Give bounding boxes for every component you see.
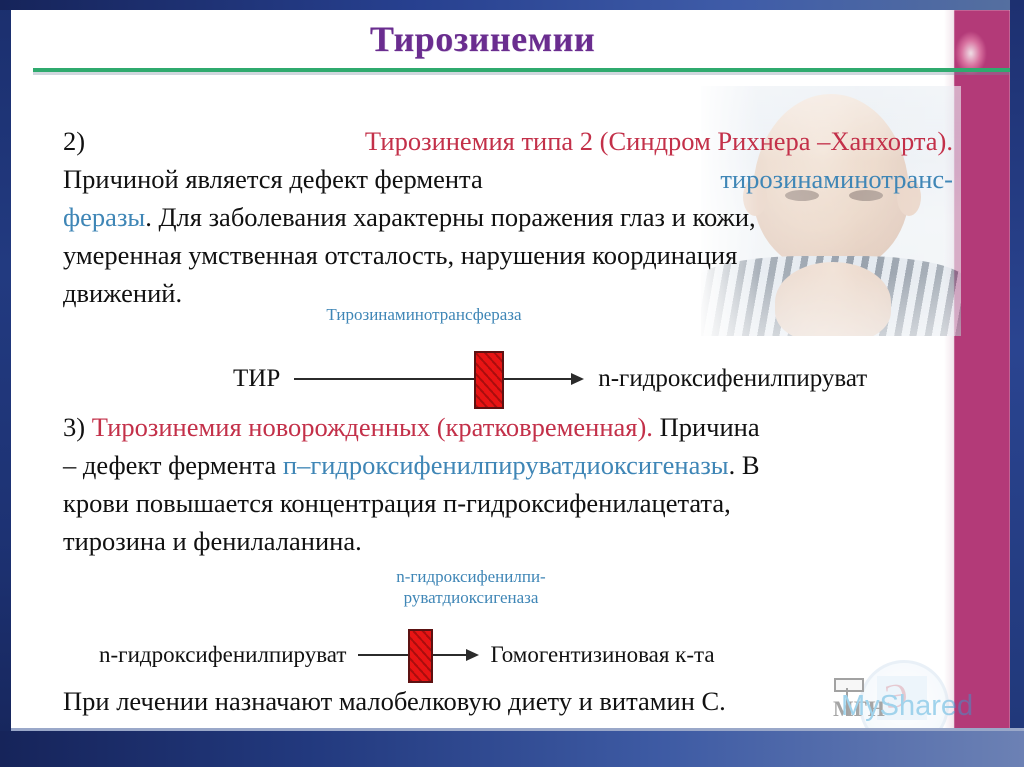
reaction-2-arrow-head	[466, 649, 479, 661]
p3-line-2-tail: . В	[729, 450, 760, 480]
body-text-block: 2) Тирозинемия типа 2 (Синдром Рихнера –…	[63, 122, 953, 312]
reaction-1-enzyme-label: Тирозинаминотрансфераза	[289, 304, 559, 325]
p3-line-2: – дефект фермента п–гидроксифенилпируват…	[63, 446, 953, 484]
reaction-1-substrate: ТИР	[233, 365, 280, 393]
p3-line-4-text: тирозина и фенилаланина.	[63, 526, 362, 556]
slide-content-area: Тирозинемии 2) Тирозинемия типа 2 (Синдр…	[11, 10, 1010, 731]
p2-line-5-text: движений.	[63, 278, 182, 308]
reaction-1-arrow	[294, 367, 584, 391]
p2-line-2: Причиной является дефект фермента тирози…	[63, 160, 953, 198]
reaction-2-block-marker	[408, 629, 433, 683]
watermark-brand: MyShared	[841, 690, 973, 723]
p3-line-1-tail: Причина	[660, 412, 760, 442]
p2-enzyme-part-2: феразы	[63, 202, 145, 232]
reaction-2-enzyme-label-line-2: руватдиоксигеназа	[341, 587, 601, 608]
p3-line-1: 3) Тирозинемия новорожденных (кратковрем…	[63, 408, 953, 446]
p3-defect-text: – дефект фермента	[63, 450, 276, 480]
title-zone: Тирозинемии	[11, 10, 954, 72]
p2-line-3: феразы. Для заболевания характерны пораж…	[63, 198, 953, 236]
paragraph-tyrosinemia-type-2: 2) Тирозинемия типа 2 (Синдром Рихнера –…	[63, 122, 953, 312]
page-title: Тирозинемии	[11, 18, 954, 60]
p3-line-3: крови повышается концентрация п-гидрокси…	[63, 484, 953, 522]
p3-number: 3)	[63, 412, 85, 442]
p3-heading: Тирозинемия новорожденных (кратковременн…	[92, 412, 653, 442]
reaction-2-arrow	[358, 643, 478, 667]
p3-enzyme-name: п–гидроксифенилпируватдиоксигеназы	[283, 450, 729, 480]
p3-line-4: тирозина и фенилаланина.	[63, 522, 953, 560]
p2-line-1: 2) Тирозинемия типа 2 (Синдром Рихнера –…	[63, 122, 953, 160]
reaction-1-arrow-head	[571, 373, 584, 385]
closing-text-block: При лечении назначают малобелковую диету…	[63, 682, 953, 720]
p2-enzyme-part-1: тирозинаминотранс-	[720, 160, 953, 198]
slide-canvas: Тирозинемии 2) Тирозинемия типа 2 (Синдр…	[0, 0, 1024, 767]
reaction-2-product: Гомогентизиновая к-та	[490, 642, 714, 668]
reaction-1-row: ТИР n-гидроксифенилпируват	[233, 365, 867, 393]
p3-line-3-text: крови повышается концентрация п-гидрокси…	[63, 484, 731, 522]
closing-line: При лечении назначают малобелковую диету…	[63, 682, 953, 720]
frame-left	[0, 0, 11, 767]
reaction-1-product: n-гидроксифенилпируват	[598, 365, 867, 393]
p2-cause-text: Причиной является дефект фермента	[63, 160, 483, 198]
reaction-2-enzyme-label: n-гидроксифенилпи- руватдиоксигеназа	[341, 566, 601, 608]
reaction-1-block-marker	[474, 351, 504, 409]
frame-right	[1010, 0, 1024, 767]
frame-bottom	[0, 731, 1024, 767]
p2-symptoms-text: . Для заболевания характерны поражения г…	[145, 202, 755, 232]
histology-texture-strip	[954, 10, 1010, 731]
p2-number: 2)	[63, 122, 85, 160]
frame-top	[0, 0, 1024, 10]
reaction-2-enzyme-label-line-1: n-гидроксифенилпи-	[341, 566, 601, 587]
title-divider-shadow	[33, 72, 1010, 75]
reaction-1-arrow-line	[294, 378, 571, 380]
myshared-watermark: Э 1935 МГН MyShared	[831, 660, 1001, 731]
p2-line-4: умеренная умственная отсталость, нарушен…	[63, 236, 953, 274]
paragraph-tyrosinemia-newborn: 3) Тирозинемия новорожденных (кратковрем…	[63, 408, 953, 560]
p2-line-4-text: умеренная умственная отсталость, нарушен…	[63, 236, 737, 274]
p2-heading: Тирозинемия типа 2 (Синдром Рихнера –Хан…	[365, 122, 953, 160]
reaction-2-substrate: n-гидроксифенилпируват	[99, 642, 346, 668]
reaction-2-row: n-гидроксифенилпируват Гомогентизиновая …	[99, 642, 715, 668]
body-text-block-2: 3) Тирозинемия новорожденных (кратковрем…	[63, 408, 953, 560]
